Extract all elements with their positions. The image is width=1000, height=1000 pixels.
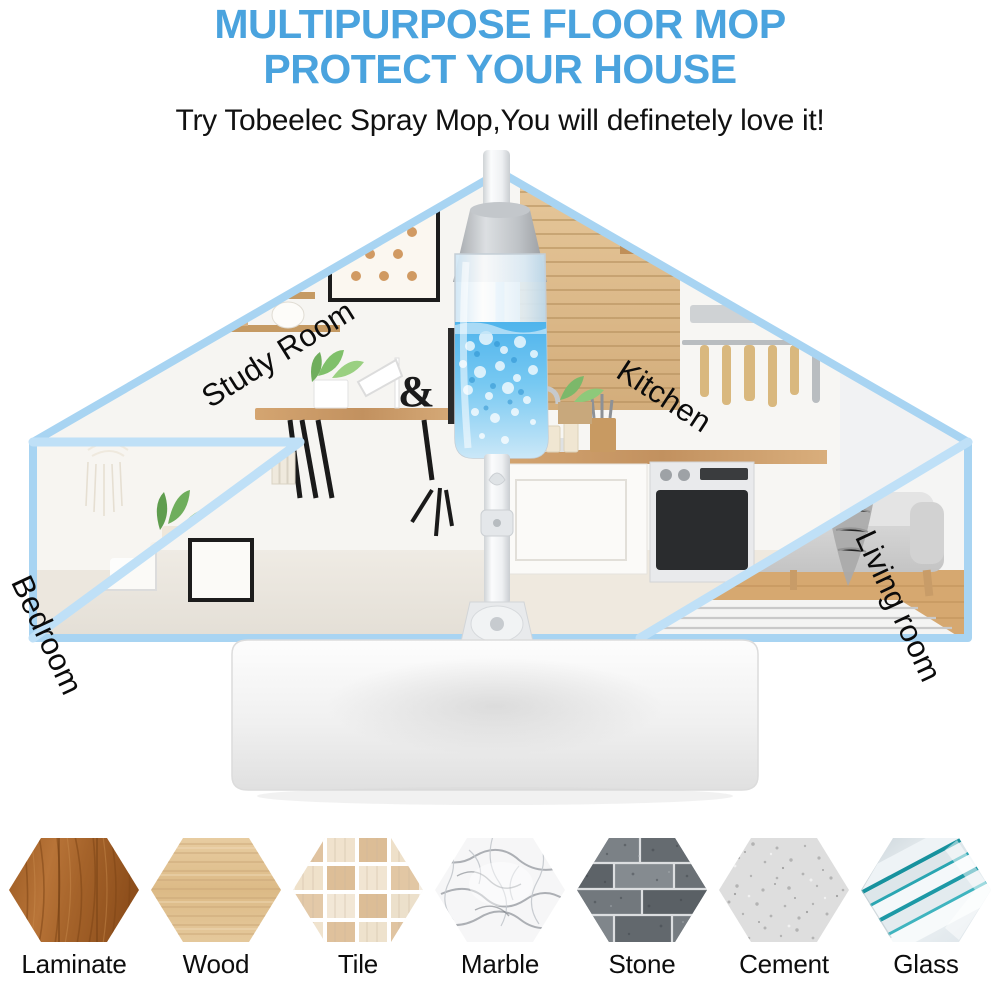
- cement-hex-icon: [719, 836, 849, 944]
- product-infographic: MULTIPURPOSE FLOOR MOP PROTECT YOUR HOUS…: [0, 0, 1000, 1000]
- glass-hex-icon: [861, 836, 991, 944]
- material-label-cement: Cement: [739, 950, 829, 978]
- subheadline: Try Tobeelec Spray Mop,You will definete…: [0, 104, 1000, 138]
- material-item-stone[interactable]: Stone: [574, 836, 710, 978]
- material-label-tile: Tile: [338, 950, 378, 978]
- tile-hex-icon: [293, 836, 423, 944]
- material-item-laminate[interactable]: Laminate: [6, 836, 142, 978]
- material-label-wood: Wood: [183, 950, 250, 978]
- spray-mop-product: [0, 150, 1000, 810]
- marble-hex-icon: [435, 836, 565, 944]
- material-item-glass[interactable]: Glass: [858, 836, 994, 978]
- laminate-hex-icon: [9, 836, 139, 944]
- stone-hex-icon: [577, 836, 707, 944]
- material-label-laminate: Laminate: [21, 950, 126, 978]
- material-item-cement[interactable]: Cement: [716, 836, 852, 978]
- material-item-marble[interactable]: Marble: [432, 836, 568, 978]
- headline-line-1: MULTIPURPOSE FLOOR MOP: [214, 1, 785, 47]
- page-title: MULTIPURPOSE FLOOR MOP PROTECT YOUR HOUS…: [0, 2, 1000, 92]
- material-item-tile[interactable]: Tile: [290, 836, 426, 978]
- wood-hex-icon: [151, 836, 281, 944]
- material-swatch-row: Laminate: [0, 836, 1000, 1000]
- material-label-stone: Stone: [609, 950, 676, 978]
- headline-line-2: PROTECT YOUR HOUSE: [0, 47, 1000, 92]
- material-label-glass: Glass: [893, 950, 958, 978]
- material-item-wood[interactable]: Wood: [148, 836, 284, 978]
- material-label-marble: Marble: [461, 950, 539, 978]
- mop-head-plate: [232, 640, 758, 790]
